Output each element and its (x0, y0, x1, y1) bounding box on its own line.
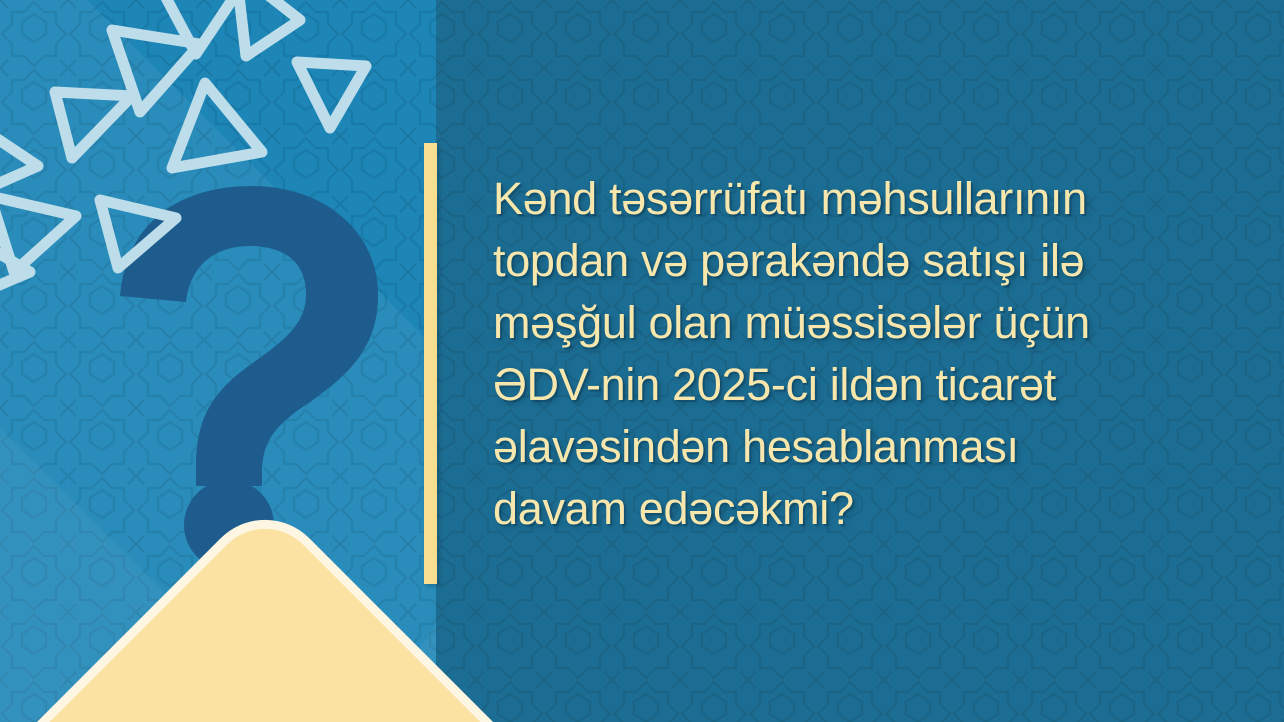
triangle-shape (100, 200, 176, 268)
triangle-shape (163, 0, 236, 54)
headline-line-3: məşğul olan müəssisələr üçün (493, 292, 1233, 354)
triangle-shape (172, 83, 262, 168)
slide-canvas: Kənd təsərrüfatı məhsullarının topdan və… (0, 0, 1284, 722)
outlined-triangle-cluster (0, 0, 436, 300)
triangle-shape (236, 0, 300, 56)
triangle-shape (297, 62, 366, 128)
cream-rounded-triangle (0, 462, 770, 722)
headline-line-1: Kənd təsərrüfatı məhsullarının (493, 168, 1233, 230)
triangle-shape (0, 126, 38, 196)
triangle-shape (55, 92, 132, 158)
headline-line-2: topdan və pərakəndə satışı ilə (493, 230, 1233, 292)
headline-line-4: ƏDV-nin 2025-ci ildən ticarət (493, 354, 1233, 416)
